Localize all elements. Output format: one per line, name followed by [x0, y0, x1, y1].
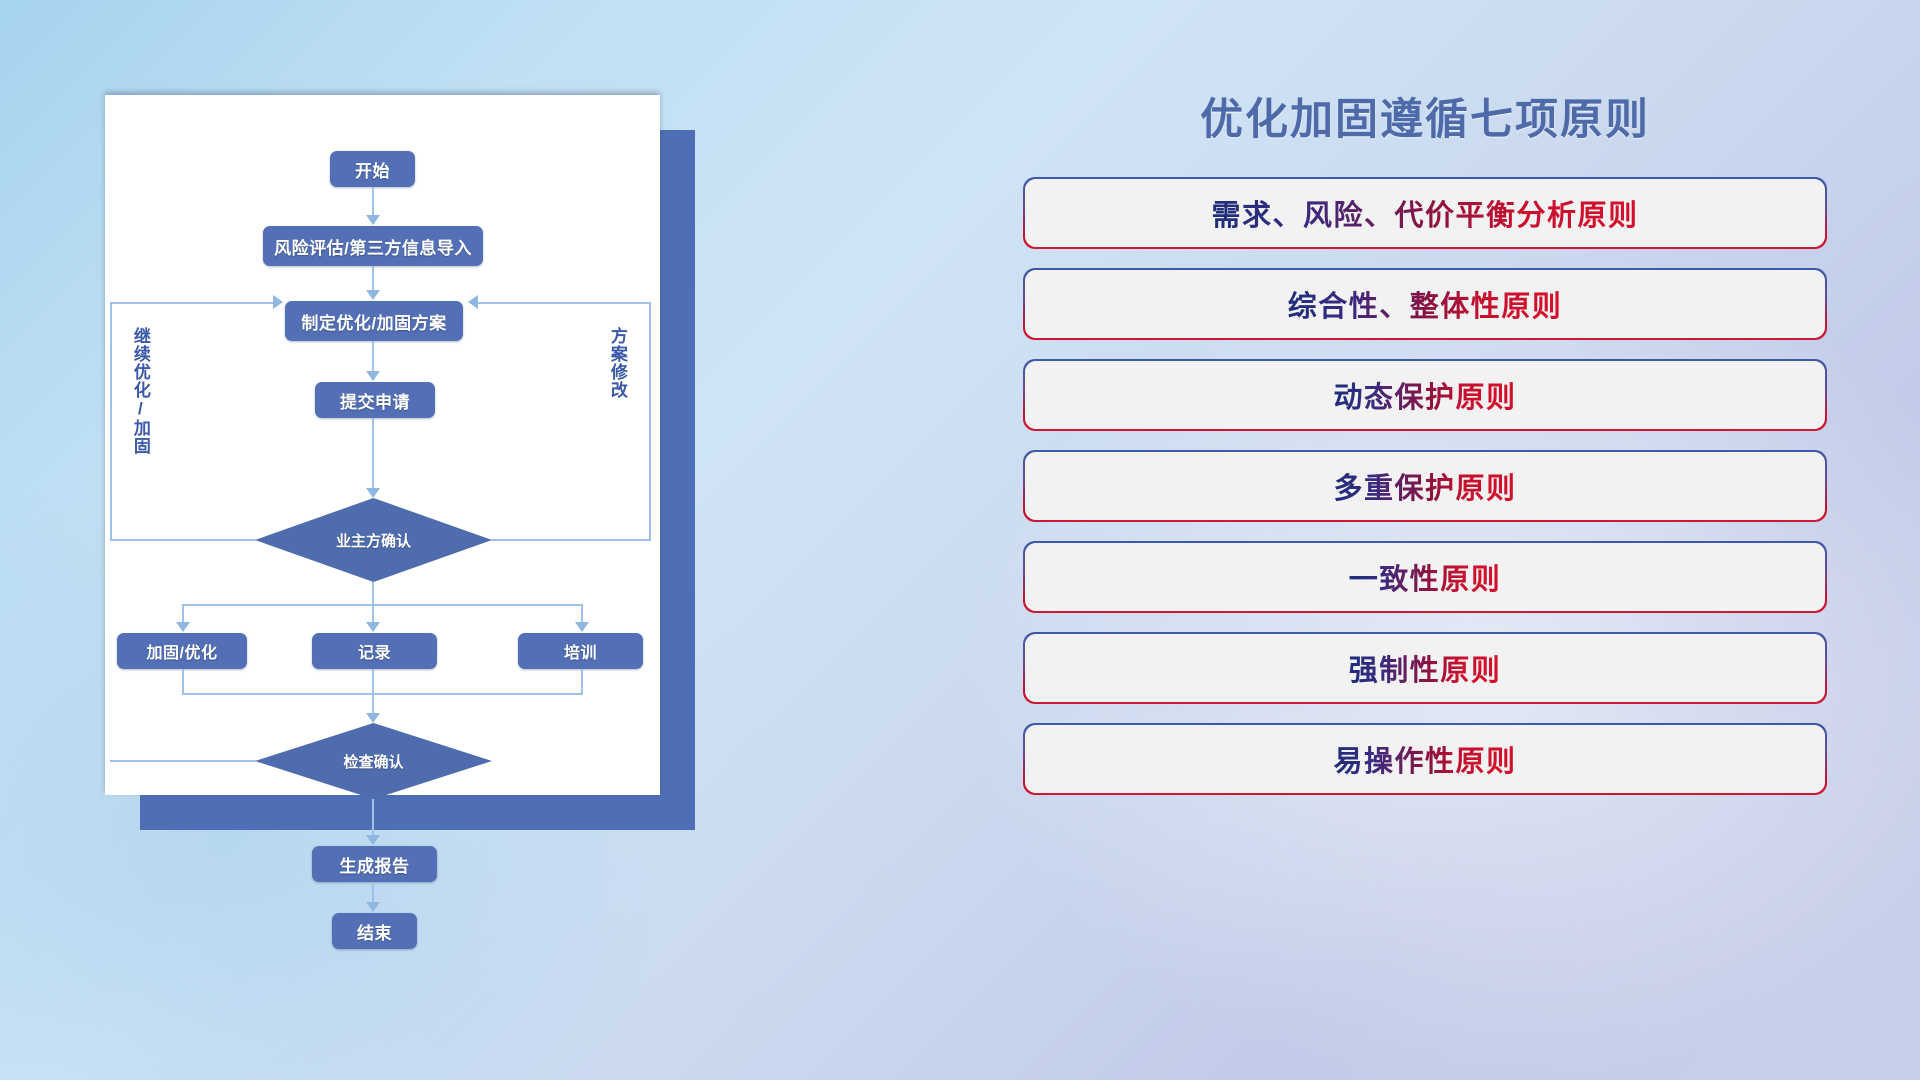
flow-node-record[interactable]: 记录 — [312, 633, 437, 669]
flowchart-stage: 开始 风险评估/第三方信息导入 制定优化/加固方案 提交申请 业主方确认 继续优… — [105, 95, 660, 795]
principle-item-surface: 综合性、整体性原则 — [1025, 270, 1825, 338]
connector-owner-left-branch — [110, 539, 256, 541]
principle-item-7[interactable]: 易操作性原则 — [1025, 725, 1825, 793]
principle-label: 多重保护原则 — [1333, 465, 1516, 507]
connector-owner-right-branch — [491, 539, 651, 541]
principle-item-surface: 需求、风险、代价平衡分析原则 — [1025, 179, 1825, 247]
edge-label-continue-optimize: 继续优化/加固 — [131, 327, 149, 455]
connector-split-bar — [182, 604, 582, 606]
flowchart-card: 开始 风险评估/第三方信息导入 制定优化/加固方案 提交申请 业主方确认 继续优… — [105, 95, 660, 795]
flow-node-make-plan[interactable]: 制定优化/加固方案 — [285, 301, 463, 341]
connector-submit-to-owner — [372, 418, 374, 490]
principle-item-4[interactable]: 多重保护原则 — [1025, 452, 1825, 520]
principles-panel: 优化加固遵循七项原则 需求、风险、代价平衡分析原则 综合性、整体性原则 动态保护… — [1025, 85, 1825, 1015]
connector-record-down — [372, 669, 374, 715]
connector-split-mid-drop — [372, 604, 374, 624]
connector-left-loop-to-plan — [110, 302, 274, 304]
principle-item-surface: 动态保护原则 — [1025, 361, 1825, 429]
arrow-submit-to-owner — [366, 488, 380, 498]
connector-training-down — [581, 669, 583, 695]
connector-split-right-drop — [581, 604, 583, 624]
principle-item-surface: 多重保护原则 — [1025, 452, 1825, 520]
connector-start-to-risk — [372, 187, 374, 217]
principle-label: 易操作性原则 — [1333, 738, 1516, 780]
principle-item-2[interactable]: 综合性、整体性原则 — [1025, 270, 1825, 338]
edge-label-plan-revision: 方案修改 — [608, 327, 626, 399]
connector-left-loop-vertical — [110, 302, 112, 540]
flow-node-start[interactable]: 开始 — [330, 151, 415, 187]
principle-item-surface: 强制性原则 — [1025, 634, 1825, 702]
flowchart-panel: 开始 风险评估/第三方信息导入 制定优化/加固方案 提交申请 业主方确认 继续优… — [105, 95, 660, 795]
flow-node-reinforce-optimize[interactable]: 加固/优化 — [117, 633, 247, 669]
principle-item-surface: 易操作性原则 — [1025, 725, 1825, 793]
principle-item-1[interactable]: 需求、风险、代价平衡分析原则 — [1025, 179, 1825, 247]
connector-merge-bar — [182, 693, 582, 695]
connector-split-left-drop — [182, 604, 184, 624]
arrow-left-loop-into-plan — [273, 295, 283, 309]
flow-node-risk-assessment[interactable]: 风险评估/第三方信息导入 — [263, 226, 483, 266]
flow-node-end[interactable]: 结束 — [332, 913, 417, 949]
arrow-into-record — [366, 622, 380, 632]
principle-item-6[interactable]: 强制性原则 — [1025, 634, 1825, 702]
flow-node-submit-application[interactable]: 提交申请 — [315, 382, 435, 418]
principle-item-3[interactable]: 动态保护原则 — [1025, 361, 1825, 429]
arrow-plan-to-submit — [366, 371, 380, 381]
connector-right-loop-vertical — [649, 302, 651, 540]
connector-right-loop-to-plan — [478, 302, 650, 304]
connector-reinforce-down — [182, 669, 184, 695]
arrow-report-to-end — [366, 902, 380, 912]
arrow-right-loop-into-plan — [468, 295, 478, 309]
principles-list: 需求、风险、代价平衡分析原则 综合性、整体性原则 动态保护原则 多重保护原则 一… — [1025, 179, 1825, 793]
arrow-start-to-risk — [366, 215, 380, 225]
connector-check-left-branch — [110, 760, 256, 762]
flow-decision-owner-confirm[interactable]: 业主方确认 — [255, 498, 492, 582]
principle-label: 动态保护原则 — [1333, 374, 1516, 416]
connector-check-to-report — [372, 799, 374, 837]
connector-plan-to-submit — [372, 341, 374, 373]
connector-owner-to-split — [372, 582, 374, 606]
principles-title: 优化加固遵循七项原则 — [1025, 85, 1825, 147]
arrow-into-check — [366, 713, 380, 723]
connector-report-to-end — [372, 882, 374, 904]
flow-decision-check-confirm[interactable]: 检查确认 — [255, 723, 492, 799]
connector-risk-to-plan — [372, 266, 374, 292]
principle-label: 一致性原则 — [1349, 556, 1502, 598]
arrow-check-to-report — [366, 835, 380, 845]
flow-node-training[interactable]: 培训 — [518, 633, 643, 669]
principle-item-surface: 一致性原则 — [1025, 543, 1825, 611]
arrow-into-training — [575, 622, 589, 632]
flow-node-generate-report[interactable]: 生成报告 — [312, 846, 437, 882]
principle-label: 综合性、整体性原则 — [1288, 283, 1563, 325]
arrow-into-reinforce — [176, 622, 190, 632]
arrow-risk-to-plan — [366, 290, 380, 300]
principle-label: 强制性原则 — [1349, 647, 1502, 689]
principle-label: 需求、风险、代价平衡分析原则 — [1211, 192, 1638, 234]
principle-item-5[interactable]: 一致性原则 — [1025, 543, 1825, 611]
